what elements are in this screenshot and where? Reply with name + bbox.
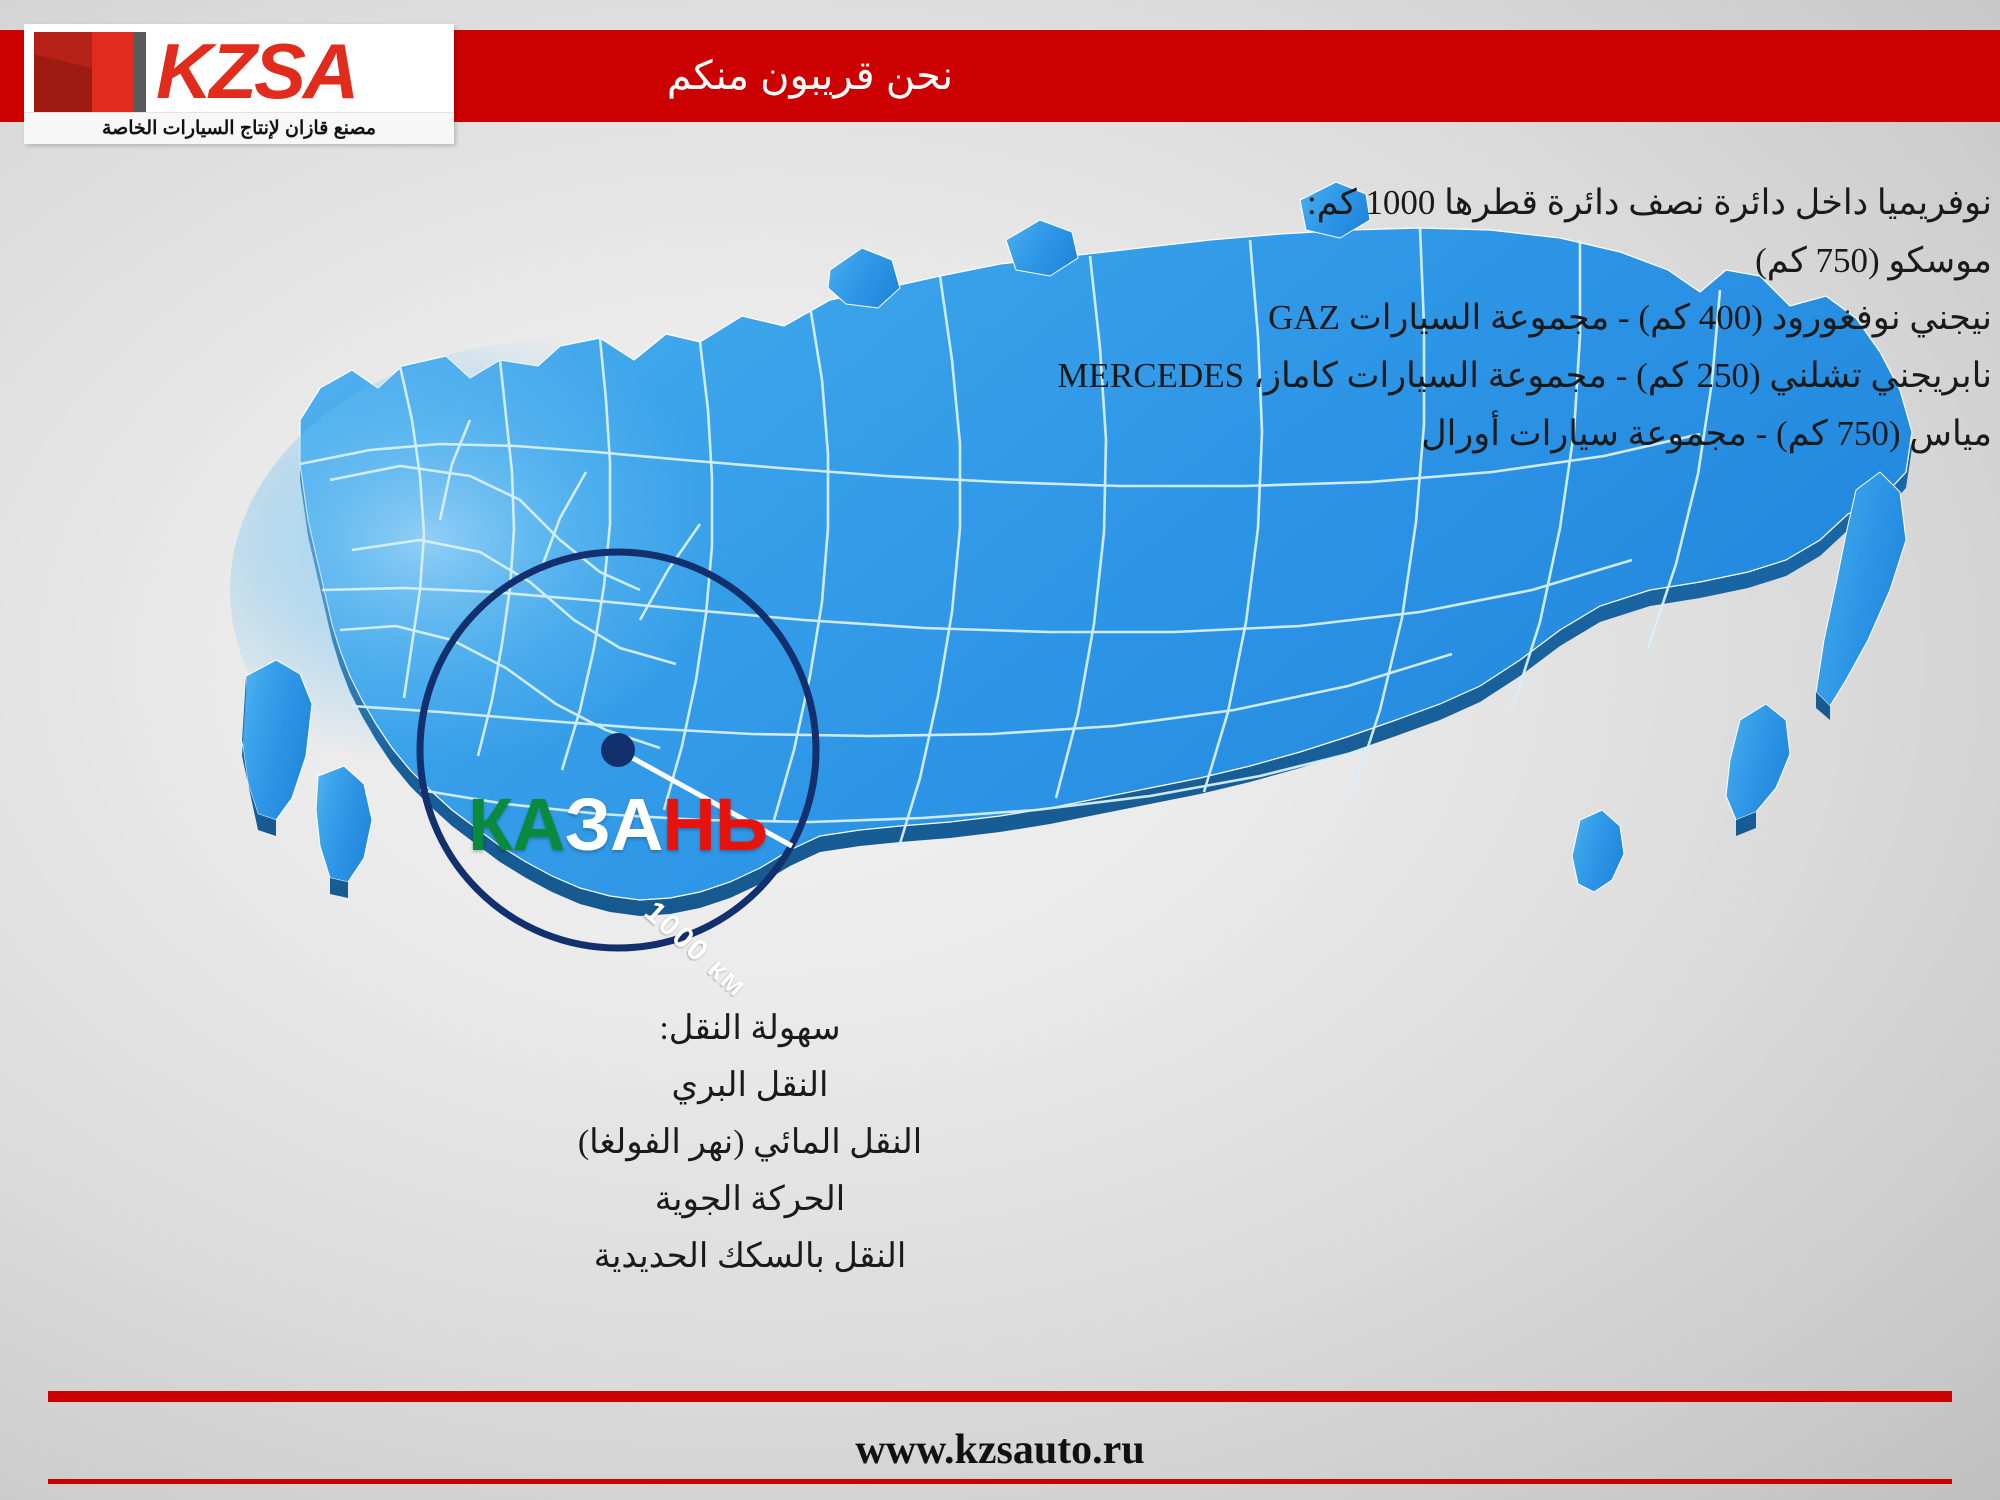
footer-website-url: www.kzsauto.ru [0, 1426, 2000, 1474]
footer-rule-top [48, 1391, 1952, 1402]
info-line-3: نيجني نوفغورود (400 كم) - مجموعة السيارا… [692, 293, 1992, 343]
transport-item-4: النقل بالسكك الحديدية [520, 1228, 980, 1285]
city-label-kazan: КАЗАНЬ [468, 788, 767, 862]
footer-rule-bottom [48, 1479, 1952, 1484]
transport-item-2: النقل المائي (نهر الفولغا) [520, 1114, 980, 1171]
info-line-1: نوفريميا داخل دائرة نصف دائرة قطرها 1000… [692, 178, 1992, 228]
info-line-2: موسكو (750 كم) [692, 236, 1992, 286]
logo-wordmark: KZSA [146, 32, 444, 110]
logo-mark-icon [34, 32, 146, 112]
kazan-map-dot [601, 733, 635, 767]
info-line-4: نابريجني تشلني (250 كم) - مجموعة السيارا… [692, 351, 1992, 401]
info-text-block: نوفريميا داخل دائرة نصف دائرة قطرها 1000… [692, 178, 1992, 466]
city-label-part-2: ЗА [565, 783, 663, 866]
logo-top-row: KZSA [24, 24, 454, 112]
slide-root: نحن قريبون منكم KZSA مصنع قازان لإنتاج ا… [0, 0, 2000, 1500]
transport-text-block: سهولة النقل: النقل البري النقل المائي (ن… [520, 1000, 980, 1286]
info-line-5: مياس (750 كم) - مجموعة سيارات أورال [692, 409, 1992, 459]
transport-item-3: الحركة الجوية [520, 1171, 980, 1228]
city-label-part-3: НЬ [662, 783, 767, 866]
transport-heading: سهولة النقل: [520, 1000, 980, 1057]
city-label-part-1: КА [468, 783, 565, 866]
transport-item-1: النقل البري [520, 1057, 980, 1114]
